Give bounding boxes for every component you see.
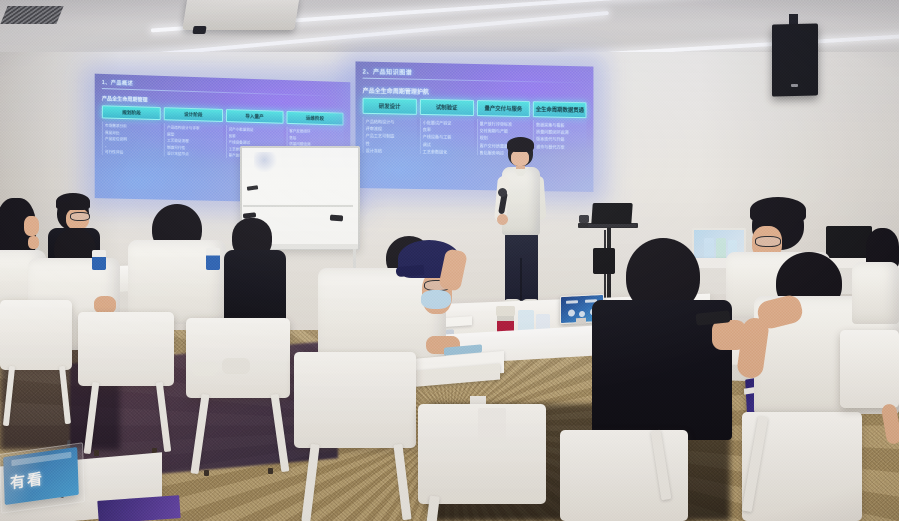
col-line: 交付周期与产能 [479,128,528,134]
slide-right-columns: 研发设计 产品结构设计与 评审流程 产品工艺可制造 性 设计冻结 试制验证 小批… [363,98,587,159]
av-box [593,248,615,274]
speaker-led-icon [791,84,798,87]
col-header: 量产交付与服务 [476,100,530,117]
col-header: 研发设计 [363,98,417,115]
presenter-face [511,150,529,166]
col-line: 调试 [423,142,472,148]
col-body: 产品结构设计与评审 原型 工艺验证流程 制造可行性 设计冻结节点 [164,123,222,158]
shoe-left-b [222,358,250,374]
col-header: 试制验证 [420,99,474,116]
student-right-black-hand [712,320,746,350]
student-left-2-hair [56,193,90,210]
shoe-left-a [192,362,218,376]
microphone-head-icon [498,188,507,197]
col-line: 评审流程 [366,126,415,132]
col-line: 产品工艺可制造 [366,133,415,139]
col-line: 版本迭代与升级 [536,137,584,143]
whiteboard-divider [243,205,353,207]
projected-slide-right: 2、产品知识图谱 产品全生命周期管理护航 研发设计 产品结构设计与 评审流程 产… [356,61,594,192]
presenter-hair [507,137,534,152]
col-body: 产品结构设计与 评审流程 产品工艺可制造 性 设计冻结 [363,117,417,154]
can-label [496,306,515,316]
col-line: 良率 [423,127,472,133]
camera-icon [579,215,589,223]
col-line: 产品结构设计与 [366,119,415,125]
col-line: 量产放行评审标准 [479,121,528,127]
student-left-1-face [24,216,39,236]
cup-left-1 [92,250,106,270]
col-line: 退市与替代方案 [536,144,584,150]
cup-left-2 [206,248,220,270]
chair-left-2[interactable] [78,312,174,386]
chair-center-1[interactable] [294,352,416,448]
col-line: 设计冻结节点 [167,152,220,158]
book-purple-bottom-left [97,495,180,521]
paper-cup [478,408,506,448]
col-line: 数据采集与看板 [536,122,584,128]
student-right-glasses-hair [750,197,806,223]
presenter-leg-split [520,258,522,302]
col-line: 工艺参数固化 [423,149,472,155]
col-line: 产品结构设计与评审 [167,125,220,131]
col-line: 工艺验证流程 [167,139,220,145]
chair-foot [268,468,273,474]
col-line: 性 [366,141,415,147]
col-header: 规划阶段 [102,105,161,120]
student-right-glasses-icon [755,236,781,247]
slide-right-subtitle: 产品全生命周期管理护航 [363,86,587,100]
water-bottle-1 [704,238,714,260]
student-right-corner-torso [852,262,899,324]
col-line: 产线设备与工装 [423,134,472,140]
col-body: 小批量试产验证 良率 产线设备与工装 调试 工艺参数固化 [420,118,474,155]
student-left-1-hand [28,236,39,249]
chair-left-1[interactable] [0,300,72,370]
laptop-base [588,224,636,227]
tent-card-sleeve [0,442,85,513]
whiteboard-marker2-icon [330,215,343,222]
slide-left-col-1: 规划阶段 市场需求分析 竞品对比 产品定位说明 。 可行性评估 [102,105,161,158]
student-center-cap-mask [421,290,451,309]
chair-foot [94,450,99,456]
col-line: 质量问题闭环追溯 [536,129,584,135]
col-header: 全生命周期数据贯通 [533,101,586,118]
col-line: 产品定位说明 [105,137,159,143]
chair-foot [204,470,209,476]
col-line: 竞品对比 [105,130,159,136]
projector-lens-icon [192,26,206,34]
col-header: 运维阶段 [286,111,343,126]
ceiling-vent [0,6,63,24]
col-header: 导入量产 [225,109,283,124]
slide-right-col-4: 全生命周期数据贯通 数据采集与看板 质量问题闭环追溯 版本迭代与升级 退市与替代… [533,101,586,159]
col-header: 设计阶段 [164,107,222,122]
water-bottle-2 [716,238,726,260]
chair-right-1[interactable] [560,430,688,521]
col-line: 制造可行性 [167,145,220,151]
student-left-2-glasses-icon [70,212,90,221]
chair-right-3[interactable] [840,330,899,408]
classroom-photo: 1、产品概述 产品全生命周期管理 规划阶段 市场需求分析 竞品对比 产品定位说明… [0,0,899,521]
slide-right-col-2: 试制验证 小批量试产验证 良率 产线设备与工装 调试 工艺参数固化 [420,99,474,157]
laptop-screen [591,203,633,225]
col-body: 数据采集与看板 质量问题闭环追溯 版本迭代与升级 退市与替代方案 [533,120,586,150]
col-line: 小批量试产验证 [423,120,472,126]
col-line: 市场需求分析 [105,124,159,130]
tablet-stand [576,318,586,325]
col-line: 可行性评估 [105,150,159,156]
col-line: 良率 [228,134,281,140]
slide-left-col-2: 设计阶段 产品结构设计与评审 原型 工艺验证流程 制造可行性 设计冻结节点 [164,107,222,160]
col-line: 售后 [289,135,341,141]
whiteboard-marks [254,152,280,172]
student-left-5-torso [224,250,286,324]
col-line: 试产小批量验证 [228,127,281,133]
col-line: 设计冻结 [366,148,415,154]
col-line: 原型 [167,132,220,138]
col-line: 。 [105,144,159,150]
col-line: 客户反馈闭环 [289,129,341,135]
presenter-hand [497,214,508,225]
col-body: 市场需求分析 竞品对比 产品定位说明 。 可行性评估 [102,121,161,156]
slide-right-col-1: 研发设计 产品结构设计与 评审流程 产品工艺可制造 性 设计冻结 [363,98,417,156]
